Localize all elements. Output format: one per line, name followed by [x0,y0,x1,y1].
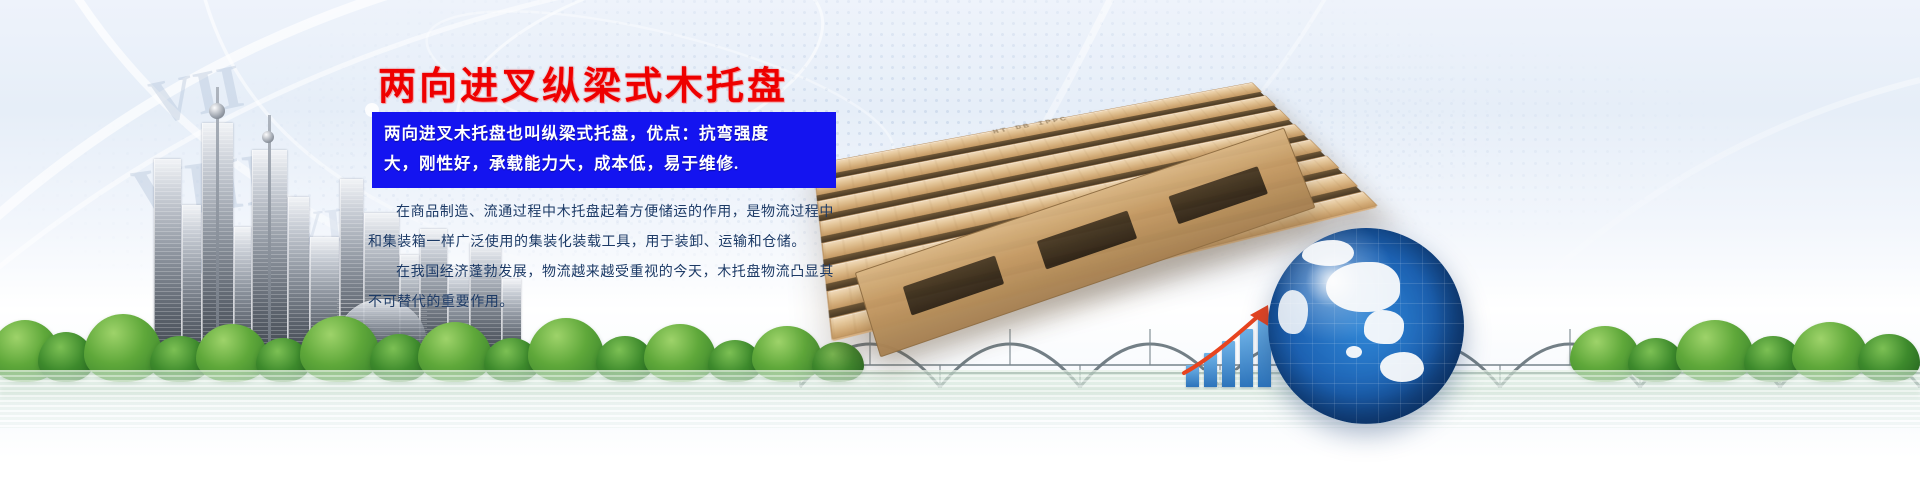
water-reflection [0,370,1920,500]
continent-asia [1326,262,1400,312]
continent-seasia [1364,310,1404,344]
continent-north [1302,240,1354,266]
continent-islands [1346,346,1362,358]
highlight-callout: 两向进叉木托盘也叫纵梁式托盘，优点：抗弯强度 大，刚性好，承载能力大，成本低，易… [372,112,836,188]
product-banner: VII VIII IX VI [0,0,1920,500]
description-paragraph: 在商品制造、流通过程中木托盘起着方便储运的作用，是物流过程中和集装箱一样广泛使用… [368,198,846,318]
highlight-line-2: 大，刚性好，承载能力大，成本低，易于维修. [384,149,826,179]
globe-icon [1268,228,1464,424]
description-line-1: 在商品制造、流通过程中木托盘起着方便储运的作用，是物流过程中和集装箱一样广泛使用… [368,198,846,258]
description-line-2: 在我国经济蓬勃发展，物流越来越受重视的今天，木托盘物流凸显其不可替代的重要作用。 [368,258,846,318]
continent-oceania [1380,352,1424,382]
highlight-line-1: 两向进叉木托盘也叫纵梁式托盘，优点：抗弯强度 [384,119,826,149]
continent-west [1278,290,1308,334]
page-title: 两向进叉纵梁式木托盘 [378,55,788,110]
